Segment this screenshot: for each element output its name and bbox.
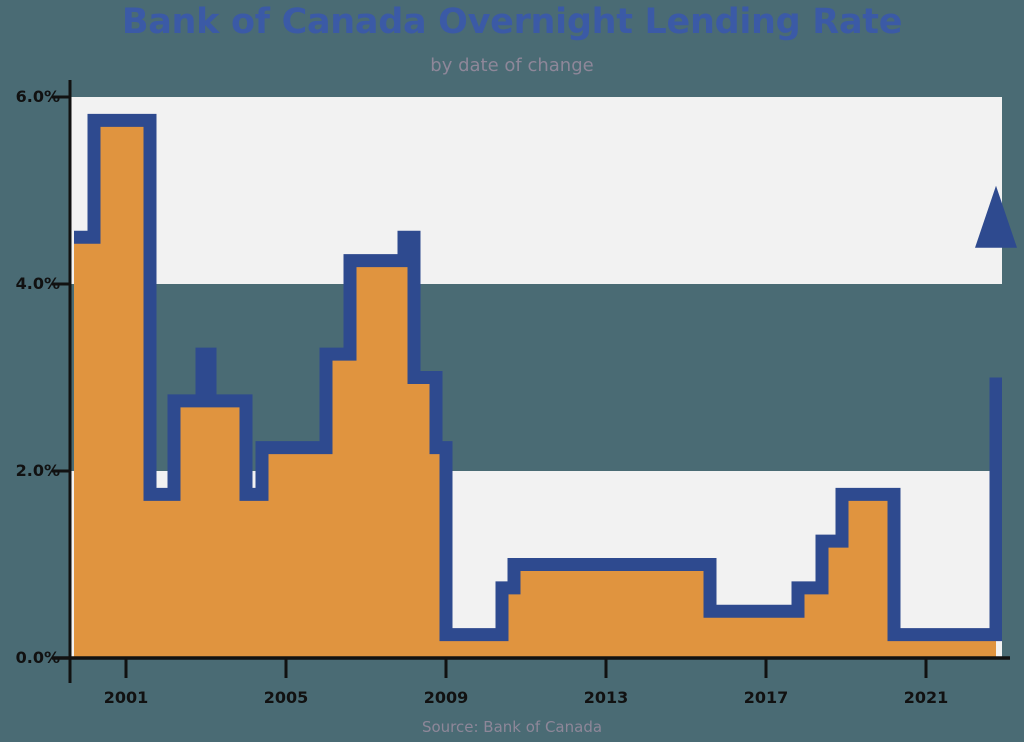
x-axis-tick-label: 2005 [241,688,331,707]
source-note: Source: Bank of Canada [0,718,1024,736]
y-axis-tick-label: 2.0% [0,461,60,480]
x-axis-tick-label: 2001 [81,688,171,707]
y-axis-tick-label: 6.0% [0,87,60,106]
chart-page: Bank of Canada Overnight Lending Rate by… [0,0,1024,742]
y-axis-tick-label: 0.0% [0,648,60,667]
x-axis-tick-label: 2021 [881,688,971,707]
x-axis-tick-label: 2009 [401,688,491,707]
chart-canvas [0,0,1024,742]
y-axis-tick-label: 4.0% [0,274,60,293]
x-axis-tick-label: 2017 [721,688,811,707]
x-axis-tick-label: 2013 [561,688,651,707]
